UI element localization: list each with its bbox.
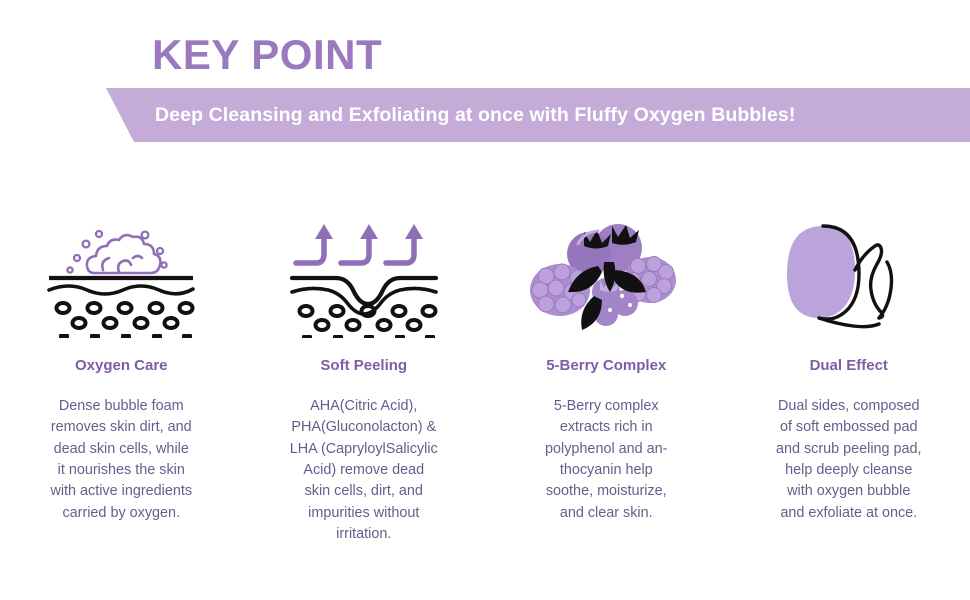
feature-column-berry-complex: 5-Berry Complex 5-Berry complex extracts… [485, 200, 728, 545]
feature-body: Dense bubble foam removes skin dirt, and… [26, 396, 216, 524]
dual-sided-pad-icon [728, 200, 970, 345]
feature-column-dual-effect: Dual Effect Dual sides, composed of soft… [728, 200, 970, 545]
feature-body: Dual sides, composed of soft embossed pa… [745, 396, 953, 524]
feature-body: AHA(Citric Acid), PHA(Gluconolacton) & L… [264, 396, 464, 545]
feature-column-soft-peeling: Soft Peeling AHA(Citric Acid), PHA(Gluco… [243, 200, 486, 545]
peeling-arrows-skin-icon [243, 200, 486, 345]
feature-title: Dual Effect [810, 357, 888, 374]
feature-columns: Oxygen Care Dense bubble foam removes sk… [0, 200, 970, 545]
feature-body: 5-Berry complex extracts rich in polyphe… [511, 396, 701, 524]
feature-title: Soft Peeling [320, 357, 407, 374]
subtitle-banner-text: Deep Cleansing and Exfoliating at once w… [155, 88, 965, 142]
oxygen-bubble-skin-icon [0, 200, 243, 345]
feature-title: Oxygen Care [75, 357, 168, 374]
feature-column-oxygen-care: Oxygen Care Dense bubble foam removes sk… [0, 200, 243, 545]
page-header: KEY POINT Deep Cleansing and Exfoliating… [0, 0, 970, 150]
page-title: KEY POINT [152, 34, 382, 76]
berry-cluster-icon [485, 200, 728, 345]
feature-title: 5-Berry Complex [546, 357, 666, 374]
